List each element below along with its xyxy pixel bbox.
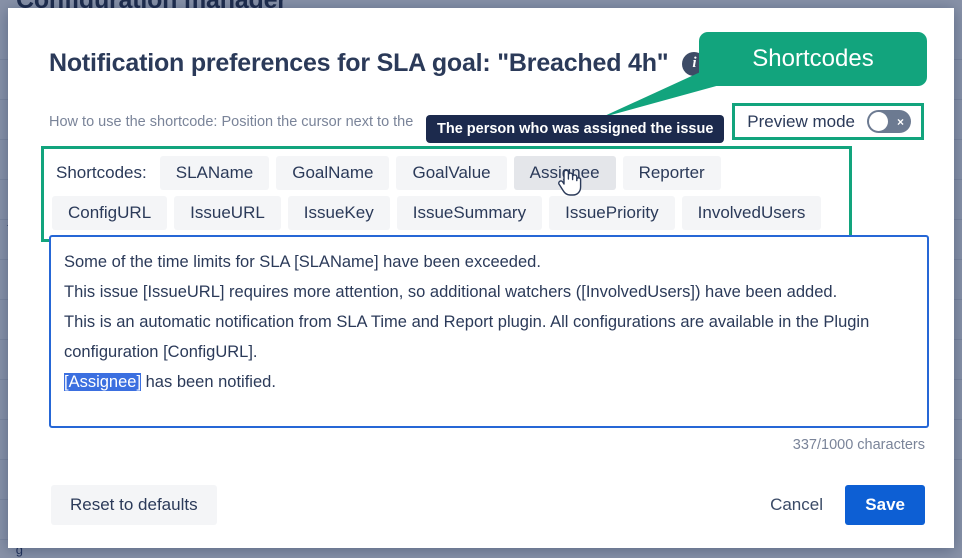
shortcode-chip-issuesummary[interactable]: IssueSummary — [397, 196, 542, 230]
help-text: How to use the shortcode: Position the c… — [49, 114, 413, 130]
message-line-4: [Assignee] has been notified. — [64, 367, 914, 397]
cancel-button[interactable]: Cancel — [762, 485, 831, 525]
shortcode-chip-issuepriority[interactable]: IssuePriority — [549, 196, 675, 230]
shortcodes-panel: Shortcodes: SLANameGoalNameGoalValueAssi… — [41, 146, 852, 242]
assignee-tooltip: The person who was assigned the issue — [426, 115, 724, 143]
page-title: Notification preferences for SLA goal: "… — [49, 49, 668, 78]
preview-mode-toggle[interactable]: × — [867, 110, 911, 133]
message-line-4-rest: has been notified. — [141, 373, 276, 391]
shortcode-chip-configurl[interactable]: ConfigURL — [52, 196, 167, 230]
shortcode-chip-reporter[interactable]: Reporter — [623, 156, 721, 190]
preview-mode-control[interactable]: Preview mode × — [732, 103, 924, 140]
shortcode-chip-issueurl[interactable]: IssueURL — [174, 196, 281, 230]
message-line-3: This is an automatic notification from S… — [64, 307, 914, 367]
shortcode-chip-goalname[interactable]: GoalName — [276, 156, 389, 190]
shortcodes-callout: Shortcodes — [699, 32, 927, 86]
preview-mode-label: Preview mode — [747, 112, 855, 132]
shortcode-chip-assignee[interactable]: Assignee — [514, 156, 616, 190]
message-line-1: Some of the time limits for SLA [SLAName… — [64, 247, 914, 277]
shortcodes-label: Shortcodes: — [52, 159, 153, 187]
notification-preferences-dialog: Notification preferences for SLA goal: "… — [8, 8, 954, 548]
reset-to-defaults-button[interactable]: Reset to defaults — [51, 485, 217, 525]
shortcode-chip-issuekey[interactable]: IssueKey — [288, 196, 390, 230]
selected-shortcode: [Assignee] — [64, 373, 141, 391]
shortcode-chip-involvedusers[interactable]: InvolvedUsers — [682, 196, 822, 230]
character-counter: 337/1000 characters — [793, 437, 925, 453]
shortcode-chip-slaname[interactable]: SLAName — [160, 156, 269, 190]
notification-message-textarea[interactable]: Some of the time limits for SLA [SLAName… — [49, 235, 929, 428]
callout-label: Shortcodes — [752, 45, 873, 73]
message-line-2: This issue [IssueURL] requires more atte… — [64, 277, 914, 307]
toggle-off-icon: × — [897, 116, 904, 128]
save-button[interactable]: Save — [845, 485, 925, 525]
toggle-knob — [869, 112, 888, 131]
shortcode-chip-goalvalue[interactable]: GoalValue — [396, 156, 506, 190]
